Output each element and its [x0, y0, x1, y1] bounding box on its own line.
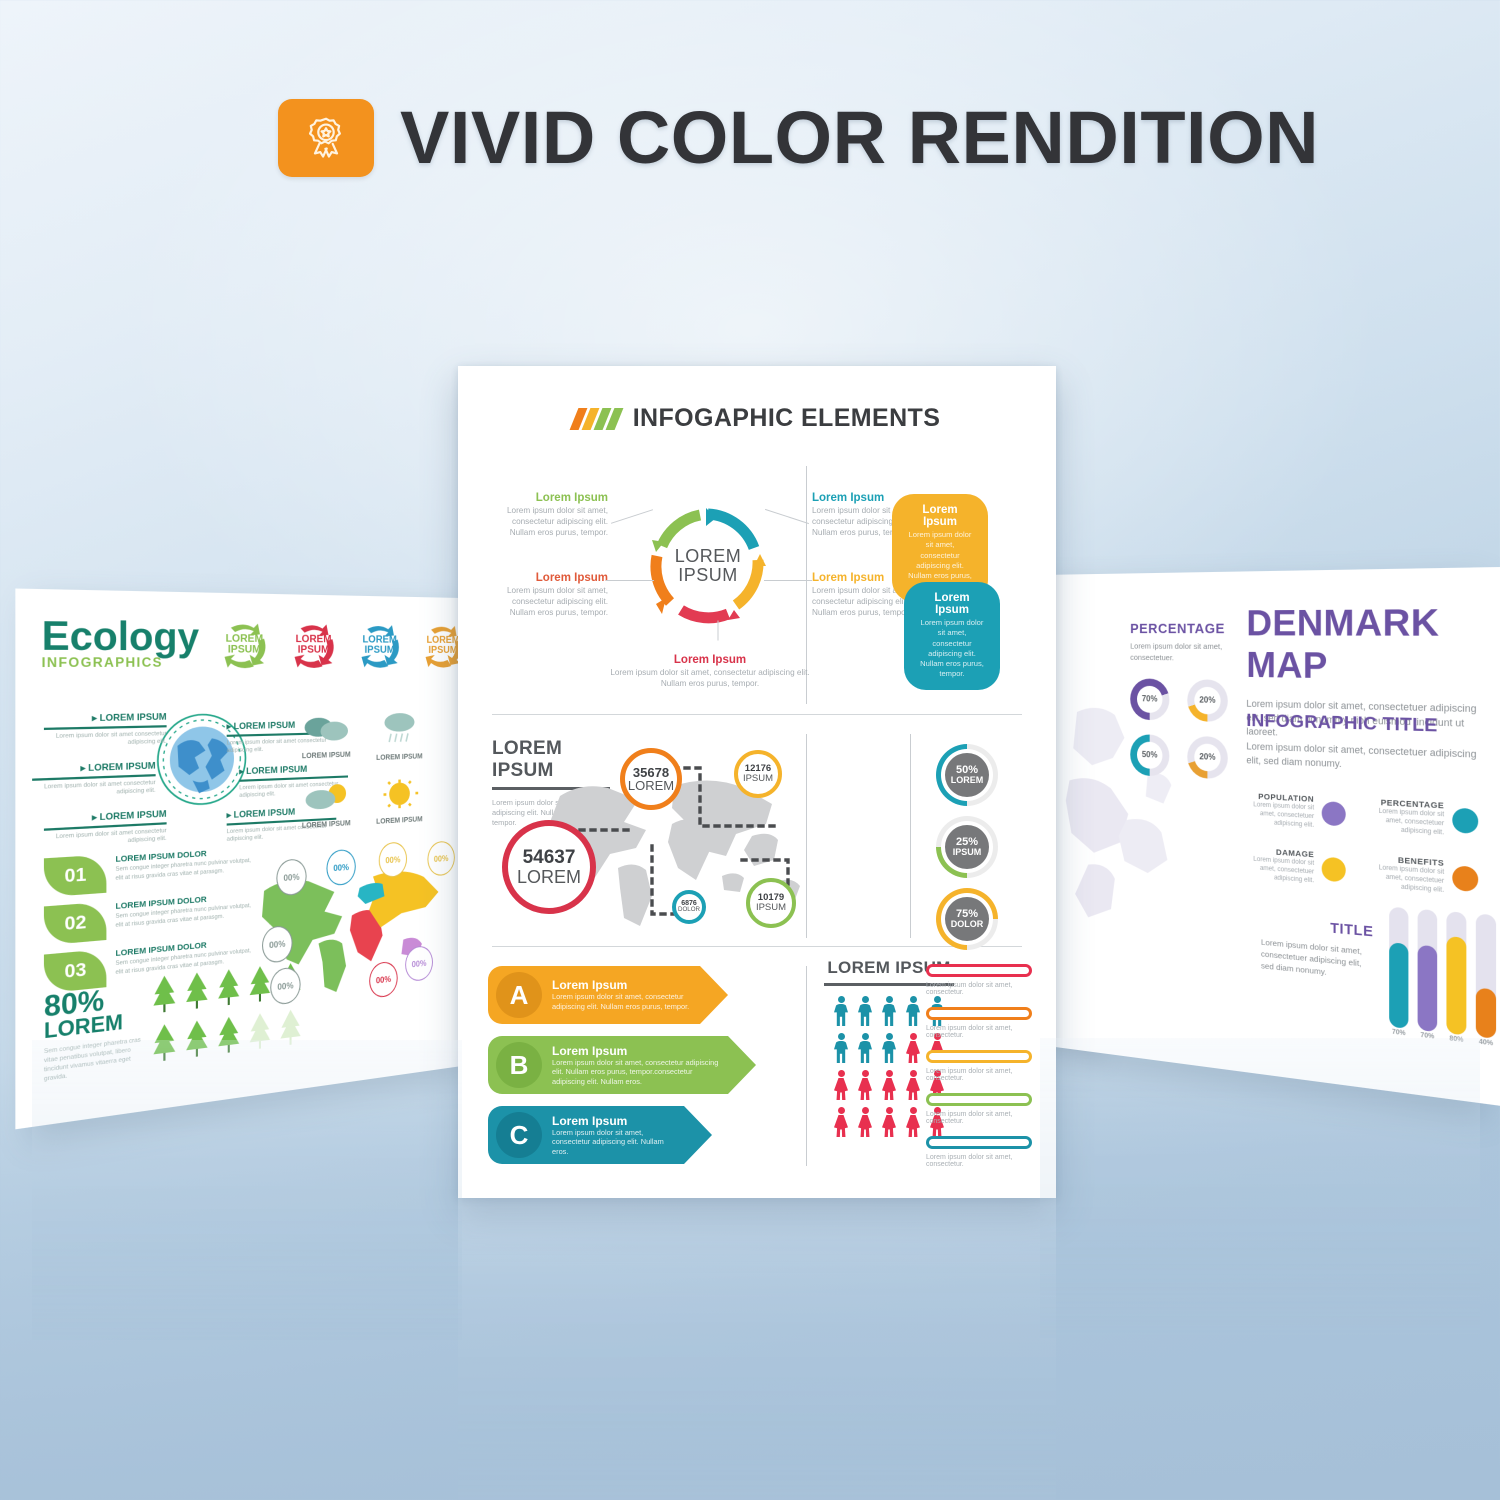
denmark-title: DENMARK MAP [1246, 601, 1493, 690]
step-arrow-c[interactable]: CLorem IpsumLorem ipsum dolor sit amet, … [488, 1106, 788, 1164]
gauge-center: 50%LOREM [945, 753, 989, 797]
divider-vertical-bottom [806, 966, 807, 1166]
map-marker-3[interactable]: 6876 DOLOR [672, 890, 706, 924]
percent-bubble-group: 00%00%00%00%00%00%00%00% [15, 589, 462, 598]
vbar-label-3: 40% [1476, 1039, 1496, 1048]
cycle-label-4: Lorem Ipsum Lorem ipsum dolor sit amet, … [608, 654, 812, 690]
pill-item-0[interactable]: Lorem ipsum dolor sit amet, consectetur. [926, 964, 1032, 996]
denmark-donut-2[interactable]: 50% [1130, 734, 1169, 777]
vbar-label-0: 70% [1389, 1029, 1408, 1038]
ecology-stat: 80% LOREM Sem congue integer pharetra cr… [44, 982, 142, 1084]
recycle-logo-3: LOREMIPSUM [418, 623, 462, 668]
pill-item-2[interactable]: Lorem ipsum dolor sit amet, consectetur. [926, 1050, 1032, 1082]
leaf-step-01[interactable]: 01LOREM IPSUM DOLORSem congue integer ph… [44, 845, 260, 897]
vbar-1[interactable] [1418, 909, 1438, 1032]
legend-body: Lorem ipsum dolor sit amet, consectetuer… [1240, 855, 1314, 886]
map-marker-1[interactable]: 12176 IPSUM [734, 750, 782, 798]
pill-bar [926, 1050, 1032, 1063]
pill-caption: Lorem ipsum dolor sit amet, consectetur. [926, 982, 1032, 996]
weather-caption: LOREM IPSUM [369, 816, 429, 826]
divider-horizontal-1 [492, 714, 1022, 715]
legend-item-damage[interactable]: DAMAGELorem ipsum dolor sit amet, consec… [1240, 845, 1358, 889]
person-female-icon [881, 1070, 897, 1100]
leaf-number: 02 [44, 902, 106, 946]
person-female-icon [905, 1033, 921, 1063]
bar-section-heading: TITLE [1261, 914, 1373, 940]
weather-sun-cloud-icon: LOREM IPSUM [295, 780, 358, 830]
recycle-logo-0: LOREMIPSUM [216, 621, 272, 669]
left-poster-ecology[interactable]: Ecology INFOGRAPHICS LOREMIPSUMLOREMIPSU… [15, 589, 462, 1130]
map-marker-4[interactable]: 10179 IPSUM [746, 878, 796, 928]
pill-bar [926, 1093, 1032, 1106]
stat-body: Sem congue integer pharetra cras vitae p… [44, 1035, 142, 1084]
person-male-icon [857, 1033, 873, 1063]
infographic-title-body: Lorem ipsum dolor sit amet, consectetuer… [1246, 740, 1493, 778]
percentage-heading: PERCENTAGE [1130, 620, 1240, 636]
tree-icon [278, 1008, 302, 1052]
legend-body: Lorem ipsum dolor sit amet, consectetuer… [1240, 800, 1314, 830]
pill-caption: Lorem ipsum dolor sit amet, consectetur. [926, 1154, 1032, 1168]
gauge-center: 25%IPSUM [945, 825, 989, 869]
recycle-line2: IPSUM [228, 645, 261, 656]
leaf-number: 01 [44, 855, 106, 898]
ecology-callout-group: ▸ LOREM IPSUMLorem ipsum dolor sit amet … [15, 589, 462, 598]
ecology-callout-2: ▸ LOREM IPSUMLorem ipsum dolor sit amet … [44, 808, 167, 851]
weather-sun-icon: LOREM IPSUM [369, 777, 429, 826]
legend-item-benefits[interactable]: BENEFITSLorem ipsum dolor sit amet, cons… [1365, 853, 1492, 899]
recycle-logo-2: LOREMIPSUM [354, 623, 405, 669]
recycle-line2: IPSUM [365, 646, 395, 656]
step-letter: A [496, 972, 542, 1018]
cycle-center-text: LOREM IPSUM [648, 506, 768, 626]
bar-section-body: Lorem ipsum dolor sit amet, consectetuer… [1261, 936, 1373, 983]
tree-icon [184, 971, 210, 1016]
leader-line-4 [718, 621, 719, 641]
legend-body: Lorem ipsum dolor sit amet, consectetuer… [1365, 807, 1445, 838]
pill-caption: Lorem ipsum dolor sit amet, consectetur. [926, 1025, 1032, 1039]
donut-value: 20% [1194, 743, 1220, 771]
legend-body: Lorem ipsum dolor sit amet, consectetuer… [1365, 863, 1445, 896]
pill-item-4[interactable]: Lorem ipsum dolor sit amet, consectetur. [926, 1136, 1032, 1168]
vbar-2[interactable] [1446, 911, 1466, 1035]
pill-bar [926, 1136, 1032, 1149]
map-marker-0[interactable]: 35678 LOREM [620, 748, 682, 810]
cycle-label-2: Lorem Ipsum Lorem ipsum dolor sit amet, … [488, 572, 608, 619]
gauge-0[interactable]: 50%LOREM [936, 744, 998, 806]
callout-box-teal[interactable]: Lorem Ipsum Lorem ipsum dolor sit amet, … [904, 582, 1000, 690]
leader-line-0 [611, 509, 653, 524]
legend-dot [1452, 807, 1478, 833]
vbar-3[interactable] [1476, 914, 1496, 1039]
ecology-title-block: Ecology INFOGRAPHICS [42, 617, 200, 671]
step-heading: Lorem Ipsum [552, 1044, 720, 1058]
tree-icon [216, 968, 241, 1013]
denmark-donut-3[interactable]: 20% [1187, 735, 1228, 779]
step-arrow-b[interactable]: BLorem IpsumLorem ipsum dolor sit amet, … [488, 1036, 788, 1094]
recycle-logo-1: LOREMIPSUM [287, 622, 341, 669]
callout-body: Lorem ipsum dolor sit amet consectetur a… [44, 827, 167, 850]
cycle-label-0: Lorem Ipsum Lorem ipsum dolor sit amet, … [488, 492, 608, 539]
gauge-2[interactable]: 75%DOLOR [936, 888, 998, 950]
weather-caption: LOREM IPSUM [295, 751, 358, 760]
rain-cloud-icon [369, 711, 429, 752]
infographic-title-heading: INFOGRAPHIC TITLE [1246, 710, 1493, 739]
percentage-donut-grid: 70%20%50%20% [1130, 678, 1234, 779]
person-female-icon [833, 1107, 849, 1137]
tree-icon [151, 974, 177, 1020]
tree-icon [216, 1015, 241, 1060]
center-poster-infographic-elements[interactable]: INFOGAPHIC ELEMENTS [458, 366, 1056, 1198]
donut-value: 50% [1137, 741, 1162, 769]
person-male-icon [905, 996, 921, 1026]
bar-chart [1389, 904, 1500, 1039]
infographic-title-block: INFOGRAPHIC TITLE Lorem ipsum dolor sit … [1246, 710, 1493, 778]
gauge-1[interactable]: 25%IPSUM [936, 816, 998, 878]
gauge-label: LOREM [951, 776, 984, 785]
ecology-callout-1: ▸ LOREM IPSUMLorem ipsum dolor sit amet … [32, 760, 156, 801]
poster-stage: % INFOGRAPHIC Ecology INFOGRAPHICS LOREM… [0, 0, 1500, 1500]
tree-icon [151, 1023, 177, 1069]
person-male-icon [881, 996, 897, 1026]
map-marker-2[interactable]: 54637 LOREM [502, 820, 596, 914]
person-female-icon [905, 1070, 921, 1100]
step-body: Lorem ipsum dolor sit amet, consectetur … [552, 1058, 720, 1087]
denmark-donut-1[interactable]: 20% [1187, 679, 1228, 722]
legend-dot [1322, 857, 1346, 883]
step-body: Lorem ipsum dolor sit amet, consectetur … [552, 992, 692, 1011]
percentage-section: PERCENTAGE Lorem ipsum dolor sit amet, c… [1130, 620, 1240, 779]
step-heading: Lorem Ipsum [552, 978, 692, 992]
pill-item-3[interactable]: Lorem ipsum dolor sit amet, consectetur. [926, 1093, 1032, 1125]
step-heading: Lorem Ipsum [552, 1114, 676, 1128]
tree-icon [184, 1019, 210, 1065]
donut-value: 70% [1137, 685, 1162, 712]
sun-cloud-icon [295, 780, 358, 820]
ecology-title: Ecology [42, 617, 200, 655]
center-poster-header: INFOGAPHIC ELEMENTS [458, 404, 1056, 433]
slash-marks-icon [574, 408, 619, 430]
gauge-label: DOLOR [951, 920, 984, 929]
callout-body: Lorem ipsum dolor sit amet consectetur a… [32, 779, 156, 800]
sun-icon [369, 777, 429, 816]
denmark-donut-0[interactable]: 70% [1130, 678, 1169, 720]
recycle-logo-row: LOREMIPSUMLOREMIPSUMLOREMIPSUMLOREMIPSUM [216, 621, 462, 669]
step-arrow-a[interactable]: ALorem IpsumLorem ipsum dolor sit amet, … [488, 966, 788, 1024]
step-arrow-list: ALorem IpsumLorem ipsum dolor sit amet, … [488, 966, 788, 1176]
pill-list: Lorem ipsum dolor sit amet, consectetur.… [926, 964, 1032, 1179]
pill-bar [926, 1007, 1032, 1020]
weather-rain-cloud-icon: LOREM IPSUM [369, 711, 429, 763]
vbar-label-1: 70% [1418, 1032, 1438, 1041]
vbar-label-2: 80% [1446, 1035, 1466, 1044]
leader-line-1 [765, 509, 809, 524]
weather-clouds-icon: LOREM IPSUM [295, 712, 358, 761]
callout-heading: ▸ LOREM IPSUM [44, 711, 167, 726]
clouds-icon [295, 712, 358, 750]
leader-line-2 [606, 580, 654, 581]
legend-dot [1452, 865, 1478, 892]
pill-bar [926, 964, 1032, 977]
person-female-icon [857, 1107, 873, 1137]
donut-value: 20% [1194, 686, 1220, 714]
leader-line-3 [764, 580, 812, 581]
cycle-diagram: LOREM IPSUM [648, 506, 768, 626]
pill-item-1[interactable]: Lorem ipsum dolor sit amet, consectetur. [926, 1007, 1032, 1039]
reflection-center: INFOGAPHIC ELEMENTS [458, 1198, 1056, 1500]
person-female-icon [881, 1107, 897, 1137]
tree-icon [248, 1012, 273, 1057]
gauge-label: IPSUM [953, 848, 982, 857]
pill-caption: Lorem ipsum dolor sit amet, consectetur. [926, 1111, 1032, 1125]
recycle-line2: IPSUM [298, 645, 329, 656]
bar-section-text: TITLE Lorem ipsum dolor sit amet, consec… [1261, 914, 1373, 983]
step-letter: B [496, 1042, 542, 1088]
divider-vertical-mid2 [910, 734, 911, 938]
person-female-icon [833, 1070, 849, 1100]
pill-caption: Lorem ipsum dolor sit amet, consectetur. [926, 1068, 1032, 1082]
gauge-center: 75%DOLOR [945, 897, 989, 941]
percentage-body: Lorem ipsum dolor sit amet, consectetuer… [1130, 641, 1240, 665]
right-poster-denmark[interactable]: PERCENTAGE Lorem ipsum dolor sit amet, c… [1040, 567, 1500, 1106]
center-poster-title: INFOGAPHIC ELEMENTS [633, 404, 941, 433]
person-female-icon [857, 1070, 873, 1100]
ecology-callout-0: ▸ LOREM IPSUMLorem ipsum dolor sit amet … [44, 711, 167, 750]
legend-group: POPULATIONLorem ipsum dolor sit amet, co… [1240, 791, 1496, 900]
legend-item-population[interactable]: POPULATIONLorem ipsum dolor sit amet, co… [1240, 791, 1358, 833]
legend-dot [1322, 801, 1346, 826]
weather-icon-group: LOREM IPSUMLOREM IPSUMLOREM IPSUMLOREM I… [289, 710, 443, 713]
person-male-icon [833, 996, 849, 1026]
map-percent-bubble-3[interactable]: 00% [427, 840, 454, 876]
step-body: Lorem ipsum dolor sit amet, consectetur … [552, 1128, 676, 1157]
vbar-0[interactable] [1389, 907, 1408, 1029]
person-male-icon [857, 996, 873, 1026]
person-female-icon [905, 1107, 921, 1137]
person-male-icon [881, 1033, 897, 1063]
step-letter: C [496, 1112, 542, 1158]
callout-body: Lorem ipsum dolor sit amet consectetur a… [44, 730, 167, 749]
legend-item-percentage[interactable]: PERCENTAGELorem ipsum dolor sit amet, co… [1365, 797, 1492, 841]
person-male-icon [833, 1033, 849, 1063]
weather-caption: LOREM IPSUM [369, 753, 429, 762]
recycle-line2: IPSUM [428, 646, 457, 656]
